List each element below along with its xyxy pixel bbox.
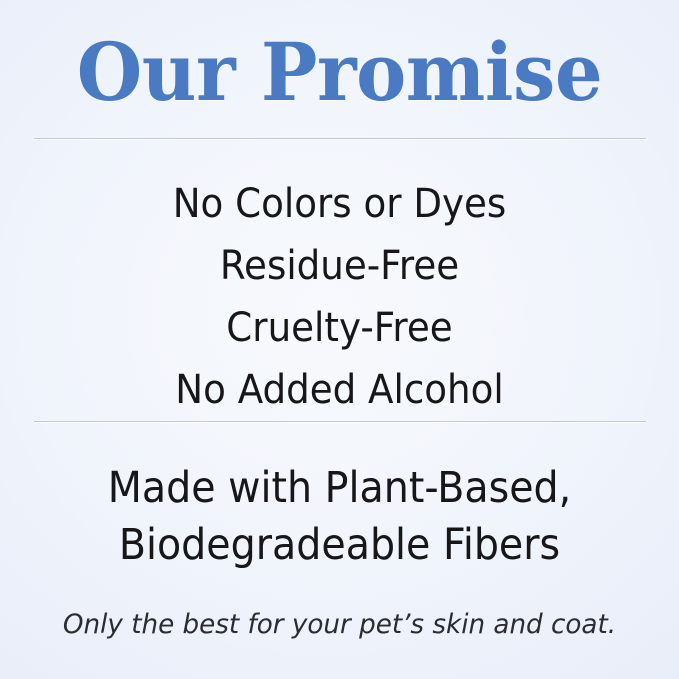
materials-line-2: Biodegradeable Fibers	[27, 517, 652, 574]
claim-item-no-added-alcohol: No Added Alcohol	[24, 359, 655, 421]
materials-statement: Made with Plant-Based, Biodegradeable Fi…	[0, 460, 679, 574]
claim-label: No Colors or Dyes	[173, 181, 507, 227]
claim-label: Cruelty-Free	[226, 305, 452, 351]
claim-item-cruelty-free: Cruelty-Free	[24, 297, 655, 359]
claim-item-residue-free: Residue-Free	[24, 235, 655, 297]
claim-item-no-colors-or-dyes: No Colors or Dyes	[24, 173, 655, 235]
our-promise-card: Our Promise No Colors or Dyes Residue-Fr…	[0, 0, 679, 679]
materials-line-1: Made with Plant-Based,	[27, 460, 652, 517]
claim-label: No Added Alcohol	[175, 367, 503, 413]
page-title: Our Promise	[20, 28, 658, 116]
title-block: Our Promise	[0, 28, 679, 120]
divider-top	[34, 138, 646, 139]
divider-bottom	[34, 421, 646, 422]
claims-list: No Colors or Dyes Residue-Free Cruelty-F…	[0, 173, 679, 421]
claim-label: Residue-Free	[220, 243, 459, 289]
footer-tagline: Only the best for your pet’s skin and co…	[10, 608, 669, 642]
